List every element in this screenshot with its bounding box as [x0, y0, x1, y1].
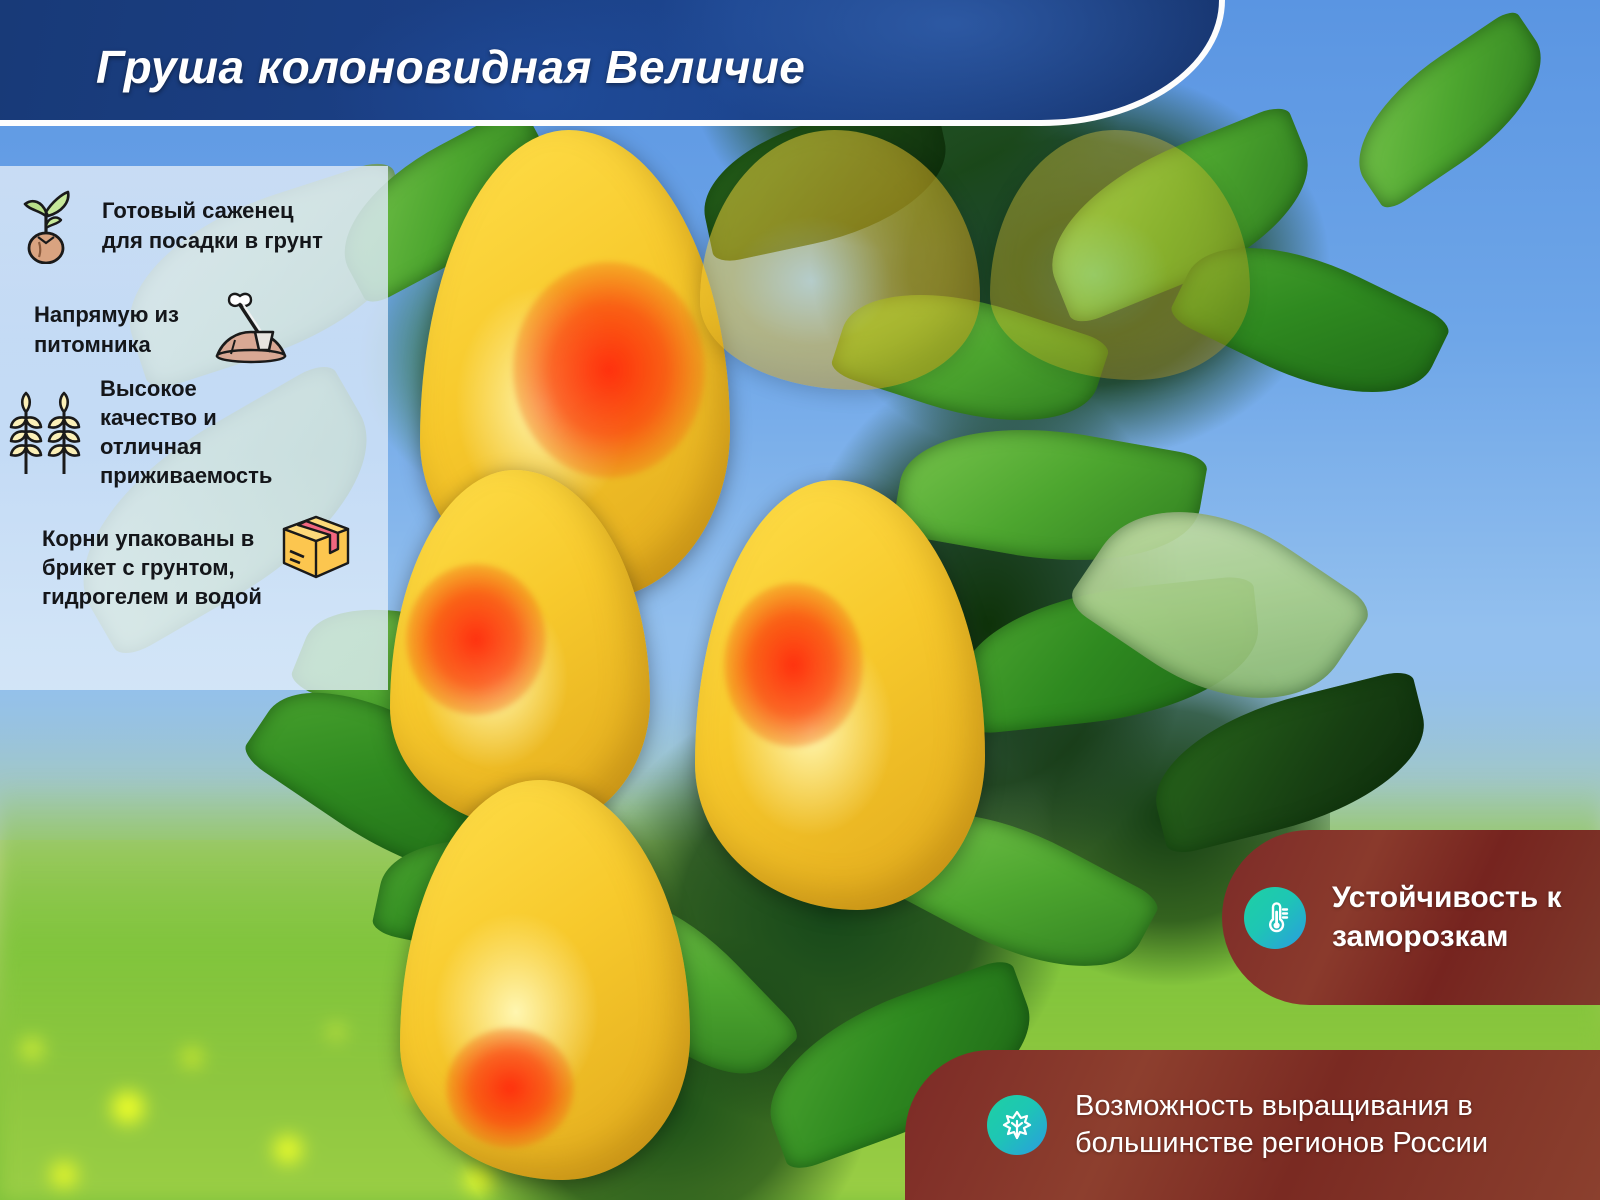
feature-label: Готовый саженец для посадки в грунт [102, 196, 323, 254]
title-banner: Груша колоновидная Величие [0, 0, 1225, 126]
thermometer-icon [1244, 887, 1306, 949]
badge-growing-regions: Возможность выращивания в большинстве ре… [905, 1050, 1600, 1200]
feature-label: Напрямую из питомника [34, 300, 179, 358]
leaf-icon [987, 1095, 1047, 1155]
badge-label: Устойчивость к заморозкам [1332, 879, 1562, 956]
badge-frost-resistance: Устойчивость к заморозкам [1222, 830, 1600, 1005]
features-panel: Готовый саженец для посадки в грунт Напр… [0, 166, 388, 690]
feature-label: Корни упакованы в брикет с грунтом, гидр… [42, 524, 262, 611]
page-title: Груша колоновидная Величие [96, 40, 805, 94]
feature-item-seedling: Готовый саженец для посадки в грунт [8, 182, 323, 269]
feature-item-packaging: Корни упакованы в брикет с грунтом, гидр… [42, 524, 356, 611]
feature-item-nursery: Напрямую из питомника [34, 288, 293, 371]
feature-item-quality: Высокое качество и отличная приживаемост… [2, 374, 272, 490]
wheat-stalks-icon [2, 382, 90, 483]
shovel-in-soil-icon [207, 288, 293, 371]
badge-label: Возможность выращивания в большинстве ре… [1075, 1088, 1488, 1162]
seedling-icon [8, 182, 84, 269]
advertisement-slide: Груша колоновидная Величие Готовый сажен… [0, 0, 1600, 1200]
package-box-icon [276, 509, 356, 592]
feature-label: Высокое качество и отличная приживаемост… [100, 374, 272, 490]
